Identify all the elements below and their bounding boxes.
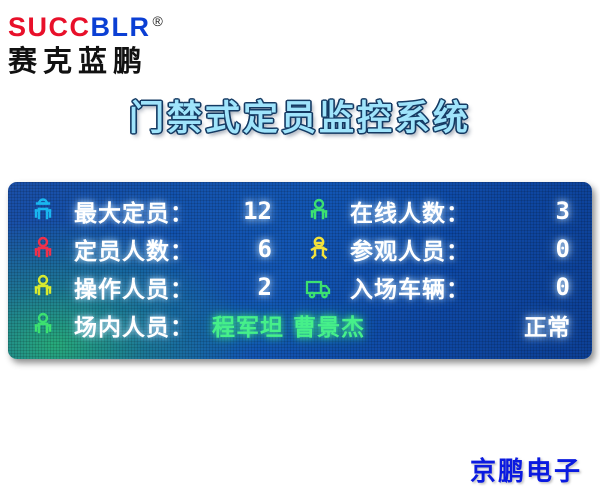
led-value: 12 bbox=[243, 197, 300, 225]
company-logo: SUCCBLR® 赛克蓝鹏 bbox=[8, 6, 218, 78]
footer-brand: 京鹏电子 bbox=[470, 451, 582, 488]
led-row: 操作人员： 2 入场车辆： 0 bbox=[8, 268, 592, 306]
led-field-onsite-personnel: 场内人员： 程军坦 曹景杰 bbox=[8, 308, 370, 342]
led-field-vehicle-count: 入场车辆： 0 bbox=[300, 270, 592, 304]
person-icon bbox=[28, 234, 58, 264]
led-value: 2 bbox=[258, 273, 300, 301]
logo-chinese-text: 赛克蓝鹏 bbox=[8, 43, 218, 79]
led-label: 最大定员： bbox=[74, 194, 194, 228]
led-display-panel: 最大定员： 12 在线人数： 3 bbox=[8, 182, 592, 359]
person-icon bbox=[304, 196, 334, 226]
person-icon bbox=[28, 272, 58, 302]
led-field-online-count: 在线人数： 3 bbox=[300, 194, 592, 228]
led-value: 3 bbox=[556, 197, 592, 225]
page-title: 门禁式定员监控系统 bbox=[0, 90, 600, 141]
led-display-content: 最大定员： 12 在线人数： 3 bbox=[8, 182, 592, 359]
truck-icon bbox=[304, 272, 334, 302]
led-row-onsite-personnel: 场内人员： 程军坦 曹景杰 正常 bbox=[8, 306, 592, 344]
logo-latin-secondary: BLR bbox=[91, 12, 151, 42]
registered-trademark-icon: ® bbox=[153, 13, 163, 29]
led-value: 0 bbox=[556, 235, 592, 263]
led-field-operator-count: 操作人员： 2 bbox=[8, 270, 300, 304]
led-field-max-capacity: 最大定员： 12 bbox=[8, 194, 300, 228]
person-icon bbox=[28, 310, 58, 340]
led-label: 入场车辆： bbox=[350, 270, 470, 304]
led-row: 最大定员： 12 在线人数： 3 bbox=[8, 192, 592, 230]
person-with-cap-icon bbox=[28, 196, 58, 226]
led-value: 6 bbox=[258, 235, 300, 263]
onsite-personnel-names: 程军坦 曹景杰 bbox=[212, 308, 365, 342]
logo-latin-text: SUCCBLR® bbox=[8, 6, 218, 42]
led-label: 在线人数： bbox=[350, 194, 470, 228]
logo-latin-primary: SUCC bbox=[8, 12, 91, 42]
status-badge: 正常 bbox=[524, 308, 592, 342]
led-field-visitor-count: 参观人员： 0 bbox=[300, 232, 592, 266]
led-label: 定员人数： bbox=[74, 232, 194, 266]
led-field-assigned-count: 定员人数： 6 bbox=[8, 232, 300, 266]
led-label: 操作人员： bbox=[74, 270, 194, 304]
led-label: 参观人员： bbox=[350, 232, 470, 266]
person-visitor-icon bbox=[304, 234, 334, 264]
led-field-status: 正常 bbox=[370, 308, 592, 342]
led-label: 场内人员： bbox=[74, 308, 194, 342]
led-value: 0 bbox=[556, 273, 592, 301]
led-row: 定员人数： 6 参观人员： bbox=[8, 230, 592, 268]
